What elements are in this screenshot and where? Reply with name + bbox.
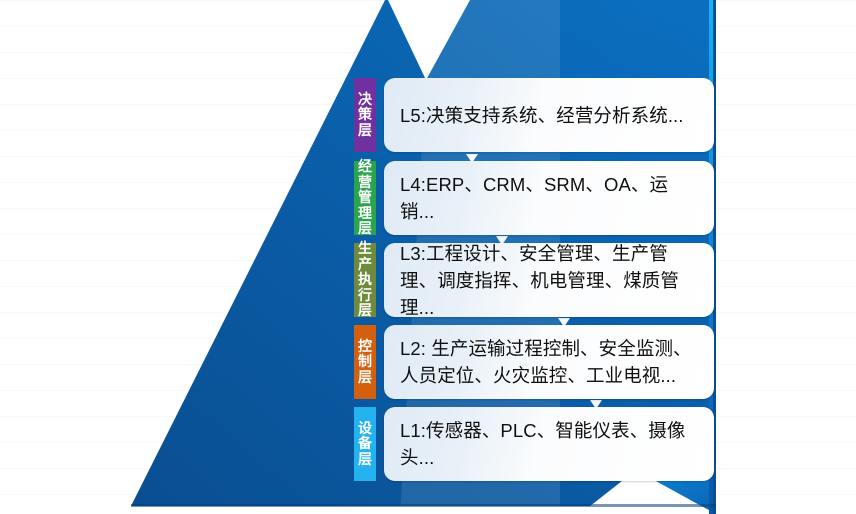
level-tag-business-management: 经 营 管 理 层 [354, 161, 376, 235]
tag-char: 生 [358, 241, 372, 257]
level-tag-decision: 决 策 层 [354, 78, 376, 152]
level-tag-production-execution: 生 产 执 行 层 [354, 243, 376, 317]
pyramid-diagram-canvas: 决 策 层 L5:决策支持系统、经营分析系统... 经 营 管 理 层 L4:E… [0, 0, 856, 514]
tag-char: 营 [358, 175, 372, 191]
tag-char: 层 [358, 221, 372, 237]
tag-char: 管 [358, 190, 372, 206]
tag-char: 理 [358, 206, 372, 222]
level-card-l1[interactable]: L1:传感器、PLC、智能仪表、摄像头... [384, 407, 714, 481]
tag-char: 策 [358, 107, 372, 123]
tag-char: 经 [358, 159, 372, 175]
tag-char: 层 [358, 303, 372, 319]
tag-char: 层 [358, 452, 372, 468]
tag-char: 控 [358, 339, 372, 355]
level-card-l5[interactable]: L5:决策支持系统、经营分析系统... [384, 78, 714, 152]
tag-char: 执 [358, 272, 372, 288]
level-card-text-l4: L4:ERP、CRM、SRM、OA、运销... [400, 171, 700, 225]
level-tag-control: 控 制 层 [354, 325, 376, 399]
pyramid-level-l3[interactable]: 生 产 执 行 层 L3:工程设计、安全管理、生产管理、调度指挥、机电管理、煤质… [354, 243, 714, 317]
tag-char: 设 [358, 421, 372, 437]
pyramid-level-l5[interactable]: 决 策 层 L5:决策支持系统、经营分析系统... [354, 78, 714, 152]
level-card-l2[interactable]: L2: 生产运输过程控制、安全监测、人员定位、火灾监控、工业电视... [384, 325, 714, 399]
pyramid-level-l4[interactable]: 经 营 管 理 层 L4:ERP、CRM、SRM、OA、运销... [354, 161, 714, 235]
tag-char: 层 [358, 123, 372, 139]
level-card-text-l1: L1:传感器、PLC、智能仪表、摄像头... [400, 417, 700, 471]
level-card-l4[interactable]: L4:ERP、CRM、SRM、OA、运销... [384, 161, 714, 235]
tag-char: 层 [358, 370, 372, 386]
level-card-text-l5: L5:决策支持系统、经营分析系统... [400, 102, 684, 129]
base-shadow [131, 504, 716, 507]
tag-char: 产 [358, 257, 372, 273]
pyramid-level-l1[interactable]: 设 备 层 L1:传感器、PLC、智能仪表、摄像头... [354, 407, 714, 481]
level-tag-equipment: 设 备 层 [354, 407, 376, 481]
level-card-l3[interactable]: L3:工程设计、安全管理、生产管理、调度指挥、机电管理、煤质管理... [384, 243, 714, 317]
pyramid-level-l2[interactable]: 控 制 层 L2: 生产运输过程控制、安全监测、人员定位、火灾监控、工业电视..… [354, 325, 714, 399]
tag-char: 决 [358, 92, 372, 108]
tag-char: 行 [358, 288, 372, 304]
level-card-text-l2: L2: 生产运输过程控制、安全监测、人员定位、火灾监控、工业电视... [400, 335, 700, 389]
tag-char: 制 [358, 354, 372, 370]
level-card-text-l3: L3:工程设计、安全管理、生产管理、调度指挥、机电管理、煤质管理... [400, 240, 700, 321]
tag-char: 备 [358, 436, 372, 452]
